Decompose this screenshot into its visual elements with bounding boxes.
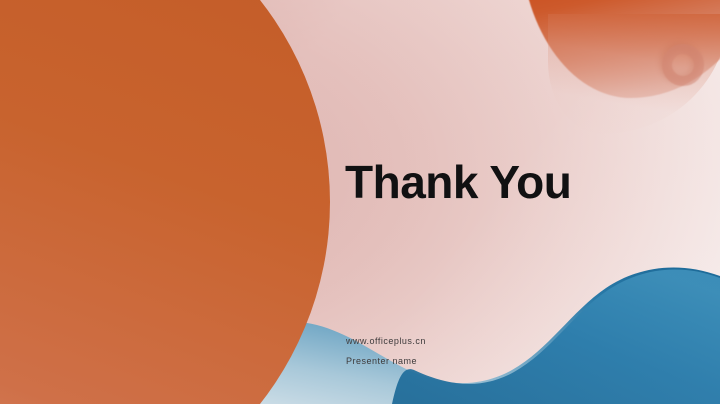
website-link[interactable]: www.officeplus.cn — [346, 331, 426, 351]
ring-circle-decoration — [662, 44, 704, 86]
presenter-name: Presenter name — [346, 351, 426, 371]
page-title: Thank You — [345, 159, 571, 205]
photo-clip-mask — [0, 0, 318, 404]
photo-panel — [0, 0, 330, 404]
footer-meta: www.officeplus.cn Presenter name — [346, 331, 426, 371]
slide-canvas: Thank You www.officeplus.cn Presenter na… — [0, 0, 720, 404]
